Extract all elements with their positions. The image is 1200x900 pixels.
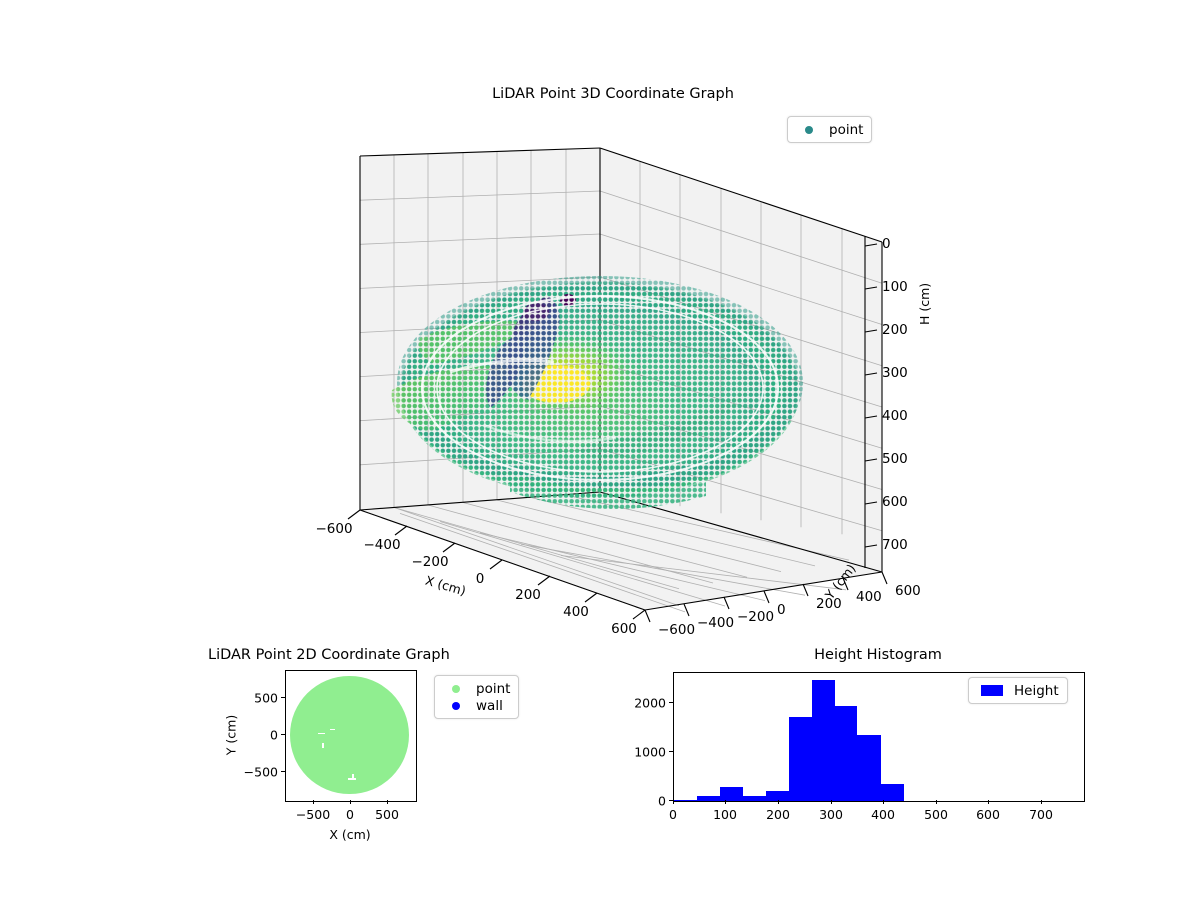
y-tick-mark [669, 800, 673, 801]
z-tick-label: 700 [882, 537, 908, 553]
histogram-bar [812, 680, 835, 801]
legend-item-point[interactable]: point [443, 680, 510, 697]
x-tick-label: −500 [296, 807, 330, 822]
y-tick-label: 0 [658, 794, 666, 809]
x-tick-label: 400 [563, 604, 589, 620]
legend-histogram[interactable]: Height [968, 677, 1068, 704]
axes-2d-lidar[interactable] [285, 670, 417, 802]
x-tick-mark [831, 800, 832, 804]
x-tick-label: 200 [766, 807, 790, 822]
z-tick-label: 100 [882, 279, 908, 295]
x-tick-label: −600 [315, 521, 352, 537]
x-tick-label: 0 [346, 807, 354, 822]
histogram-bar [674, 800, 697, 801]
point-marker-icon [796, 126, 822, 134]
legend-label: point [829, 122, 863, 138]
y-tick-label: 1000 [634, 745, 666, 760]
y-tick-mark [669, 702, 673, 703]
x-tick-mark [725, 800, 726, 804]
y-tick-mark [669, 751, 673, 752]
height-swatch-icon [977, 685, 1007, 696]
histogram-bar [857, 735, 880, 801]
x-tick-label: 400 [871, 807, 895, 822]
legend-label: point [476, 681, 510, 697]
legend-item-point[interactable]: point [796, 121, 863, 138]
y-tick-mark [281, 697, 285, 698]
histogram-bar [789, 717, 812, 801]
point-marker-icon [443, 685, 469, 693]
x-tick-label: 0 [669, 807, 677, 822]
y-tick-label: 2000 [634, 696, 666, 711]
z-tick-label: 400 [882, 408, 908, 424]
histogram-bar [835, 706, 858, 801]
y-tick-label: −200 [737, 609, 774, 625]
y-tick-label: 400 [856, 589, 882, 605]
z-tick-label: 300 [882, 365, 908, 381]
histogram-bar [881, 784, 904, 801]
y-tick-label: 0 [777, 602, 786, 618]
z-tick-label: 600 [882, 494, 908, 510]
x-tick-mark [350, 800, 351, 804]
axis-2d-xlabel: X (cm) [329, 827, 370, 842]
x-tick-mark [936, 800, 937, 804]
axes-3d-lidar[interactable]: −600 −400 −200 0 200 400 600 X (cm) −600… [300, 140, 920, 640]
histogram-bar [697, 796, 720, 801]
y-tick-mark [281, 734, 285, 735]
x-tick-mark [673, 800, 674, 804]
matplotlib-figure: LiDAR Point 3D Coordinate Graph point [0, 0, 1200, 900]
y-tick-label: −400 [697, 615, 734, 631]
z-tick-label: 0 [882, 236, 891, 252]
legend-3d[interactable]: point [787, 116, 872, 143]
legend-2d[interactable]: point wall [434, 675, 519, 719]
x-tick-label: 700 [1029, 807, 1053, 822]
histogram-bar [743, 796, 766, 801]
legend-label: Height [1014, 683, 1059, 699]
x-tick-label: 0 [476, 571, 485, 587]
x-tick-label: −200 [411, 554, 448, 570]
x-tick-label: 100 [713, 807, 737, 822]
x-tick-label: 200 [515, 587, 541, 603]
y-tick-label: 500 [254, 691, 278, 706]
legend-item-wall[interactable]: wall [443, 697, 510, 714]
axis-2d-ylabel: Y (cm) [224, 715, 239, 755]
point-cloud-2d [290, 676, 409, 795]
y-tick-label: −500 [244, 765, 278, 780]
x-tick-label: 500 [924, 807, 948, 822]
x-tick-label: 600 [976, 807, 1000, 822]
z-tick-label: 500 [882, 451, 908, 467]
axis-3d-zlabel: H (cm) [917, 283, 932, 325]
legend-label: wall [476, 698, 503, 714]
wall-marker-icon [443, 702, 469, 710]
x-tick-label: −400 [363, 537, 400, 553]
x-tick-mark [778, 800, 779, 804]
y-tick-label: 0 [270, 728, 278, 743]
x-tick-mark [883, 800, 884, 804]
x-tick-mark [387, 800, 388, 804]
legend-item-height[interactable]: Height [977, 682, 1059, 699]
x-tick-mark [988, 800, 989, 804]
z-tick-label: 200 [882, 322, 908, 338]
panel-hist-title: Height Histogram [814, 647, 942, 663]
y-tick-label: −600 [658, 622, 695, 638]
x-tick-label: 300 [819, 807, 843, 822]
x-tick-mark [313, 800, 314, 804]
x-tick-label: 600 [611, 621, 637, 637]
x-tick-mark [1041, 800, 1042, 804]
histogram-bar [720, 787, 743, 801]
x-tick-label: 500 [375, 807, 399, 822]
panel-2d-title: LiDAR Point 2D Coordinate Graph [208, 647, 450, 663]
y-tick-mark [281, 771, 285, 772]
y-tick-label: 600 [895, 583, 921, 599]
panel-3d-title: LiDAR Point 3D Coordinate Graph [492, 86, 734, 102]
axes-3d-canvas [300, 140, 920, 640]
